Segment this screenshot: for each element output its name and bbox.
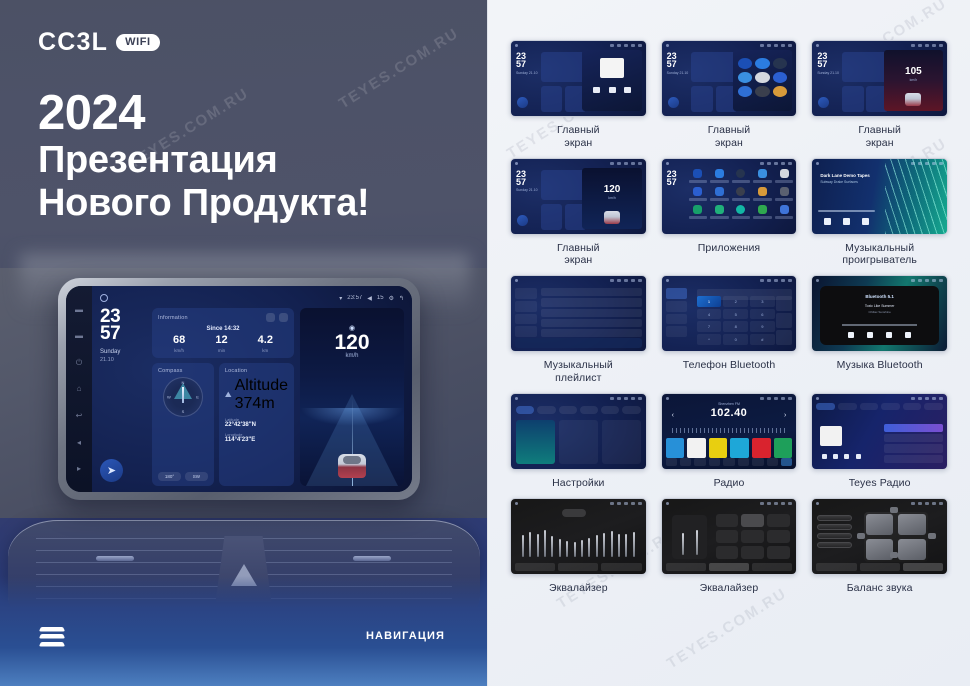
station-preset[interactable] <box>709 438 728 458</box>
balance-right-button[interactable] <box>928 533 936 539</box>
home-icon[interactable] <box>816 502 819 505</box>
balance-left-button[interactable] <box>857 533 865 539</box>
gallery-cell-3: 2357Sunday 21.10105km/hГлавный экран <box>811 40 948 150</box>
app-icon[interactable] <box>693 187 702 196</box>
clock-minutes: 57 <box>100 325 146 342</box>
longitude-value: 114°4'23"E <box>225 437 288 443</box>
dialpad-key[interactable]: 4 <box>697 309 722 320</box>
thumb-clock-min: 57 <box>667 178 677 186</box>
equalizer-slider[interactable] <box>625 534 627 557</box>
media-controls[interactable] <box>588 86 635 93</box>
volume-icon <box>624 502 628 505</box>
sidebar-item[interactable] <box>515 314 537 325</box>
teyes-tab[interactable] <box>924 403 943 410</box>
toolbar-icon[interactable] <box>781 458 792 466</box>
hw-key-volume-up[interactable]: ▸ <box>75 464 84 473</box>
station-preset[interactable] <box>687 438 706 458</box>
gallery-cell-6: Dark Lane Demo TapesSubway Drake Surface… <box>811 158 948 268</box>
hw-key-home[interactable]: ⌂ <box>75 384 84 393</box>
visualizer <box>885 159 947 234</box>
thumb-status-bar <box>666 43 793 48</box>
sidebar-item[interactable] <box>515 326 537 337</box>
sidebar-item[interactable] <box>515 288 537 299</box>
station-presets[interactable] <box>666 438 793 458</box>
teyes-tab[interactable] <box>903 403 922 410</box>
gear-icon <box>631 502 635 505</box>
thumb-home-screen-3[interactable]: 2357Sunday 21.10105km/h <box>811 40 948 117</box>
star-icon[interactable] <box>776 296 792 311</box>
station-preset[interactable] <box>730 438 749 458</box>
app-tile[interactable] <box>732 205 751 219</box>
thumb-compass-card[interactable] <box>842 86 864 112</box>
navigation-arrow-icon[interactable] <box>517 97 528 108</box>
app-icon[interactable] <box>755 72 769 83</box>
thumb-equalizer-1[interactable] <box>510 498 647 575</box>
speaker-quadrant[interactable] <box>866 539 893 560</box>
home-icon[interactable] <box>666 44 669 47</box>
next-icon[interactable] <box>844 454 849 459</box>
app-icon[interactable] <box>693 205 702 214</box>
thumb-right-widget[interactable] <box>733 50 792 111</box>
toolbar-button[interactable] <box>860 563 900 571</box>
app-icon[interactable] <box>736 187 745 196</box>
next-station-icon[interactable]: › <box>784 412 786 419</box>
home-icon[interactable] <box>816 279 819 282</box>
sidebar-item[interactable] <box>666 288 688 299</box>
equalizer-toolbar[interactable] <box>666 563 793 571</box>
dialpad[interactable]: 123456789*0# <box>697 296 775 346</box>
stop-icon[interactable] <box>609 87 616 93</box>
equalizer-slider[interactable] <box>588 538 590 557</box>
app-tile[interactable] <box>689 205 708 219</box>
stop-icon[interactable] <box>886 332 892 338</box>
dialpad-key[interactable]: 5 <box>723 309 748 320</box>
thumb-information-card[interactable] <box>541 170 587 200</box>
media-controls[interactable] <box>818 217 875 226</box>
navigation-arrow-icon[interactable] <box>517 215 528 226</box>
toolbar-button[interactable] <box>666 563 706 571</box>
wifi-icon <box>911 502 915 505</box>
hardware-key-strip[interactable]: ▬ ▬ ⏻ ⌂ ↩ ◂ ▸ <box>66 286 92 492</box>
settings-tab[interactable] <box>601 406 619 414</box>
thumb-information-card[interactable] <box>842 52 888 82</box>
thumb-clock: 2357Sunday 21.10 <box>516 52 538 75</box>
gear-icon <box>932 44 936 47</box>
home-icon[interactable] <box>515 397 518 400</box>
preset-button[interactable] <box>716 514 739 527</box>
equalizer-slider[interactable] <box>633 532 635 557</box>
thumb-sound-balance[interactable] <box>811 498 948 575</box>
equalizer-slider[interactable] <box>574 542 576 557</box>
refresh-icon[interactable] <box>266 313 275 322</box>
station-preset[interactable] <box>774 438 793 458</box>
toolbar-icon[interactable] <box>680 458 691 466</box>
home-icon[interactable] <box>100 294 108 302</box>
favorite-icon[interactable] <box>856 454 861 459</box>
thumb-right-widget[interactable] <box>582 50 641 111</box>
list-item[interactable] <box>884 455 943 463</box>
app-icon[interactable] <box>758 205 767 214</box>
media-controls[interactable] <box>842 330 917 339</box>
equalizer-slider[interactable] <box>596 535 598 557</box>
equalizer-sliders[interactable] <box>522 517 635 558</box>
toolbar-icon[interactable] <box>767 458 778 466</box>
hero-panel: TEYES.COM.RU TEYES.COM.RU TEYES.COM.RU T… <box>0 0 487 686</box>
next-icon[interactable] <box>862 218 869 225</box>
app-tile[interactable] <box>732 187 751 201</box>
home-icon[interactable] <box>666 397 669 400</box>
app-icon[interactable] <box>780 187 789 196</box>
preset-button[interactable] <box>716 530 739 543</box>
preset-button[interactable] <box>767 514 790 527</box>
speaker-quadrant[interactable] <box>866 514 893 535</box>
prev-icon[interactable] <box>848 332 854 338</box>
toolbar-button[interactable] <box>558 563 598 571</box>
toolbar-button[interactable] <box>601 563 641 571</box>
app-icon[interactable] <box>755 58 769 69</box>
home-icon[interactable] <box>666 502 669 505</box>
balance-toolbar[interactable] <box>816 563 943 571</box>
teyes-tab[interactable] <box>816 403 835 410</box>
track-title: Dark Lane Demo Tapes <box>820 173 869 178</box>
list-item[interactable] <box>884 424 943 432</box>
speed-readout: ◉ 120 km/h <box>300 324 404 359</box>
dialpad-key[interactable]: 6 <box>750 309 775 320</box>
app-icon[interactable] <box>715 205 724 214</box>
compass-card[interactable]: Compass N E S W <box>152 363 214 486</box>
thumb-equalizer-2[interactable] <box>661 498 798 575</box>
thumb-music-playlist[interactable] <box>510 275 647 352</box>
equalizer-slider[interactable] <box>581 540 583 557</box>
app-tile[interactable] <box>732 169 751 183</box>
app-tile[interactable] <box>753 169 772 183</box>
volume-icon <box>774 44 778 47</box>
equalizer-slider[interactable] <box>611 531 613 557</box>
preset-button[interactable] <box>716 546 739 559</box>
teyes-station-list[interactable] <box>884 424 943 463</box>
preset-button[interactable] <box>741 530 764 543</box>
home-icon[interactable] <box>515 279 518 282</box>
gear-icon[interactable]: ⚙ <box>389 295 394 302</box>
toolbar-icon[interactable] <box>709 458 720 466</box>
teyes-tabs[interactable] <box>816 403 943 410</box>
thumb-home-screen-1[interactable]: 2357Sunday 21.10 <box>510 40 647 117</box>
app-tile[interactable] <box>710 187 729 201</box>
layers-icon[interactable] <box>40 626 64 649</box>
dialpad-key[interactable]: # <box>750 334 775 345</box>
navigation-arrow-icon[interactable] <box>818 97 829 108</box>
settings-tab[interactable] <box>516 406 534 414</box>
thumb-music-player[interactable]: Dark Lane Demo TapesSubway Drake Surface… <box>811 158 948 235</box>
vent-knob-right[interactable] <box>353 556 391 561</box>
balance-presets[interactable] <box>817 515 852 548</box>
progress-bar[interactable] <box>818 210 875 212</box>
sidebar-item[interactable] <box>666 314 688 325</box>
toolbar-button[interactable] <box>816 563 856 571</box>
back-arrow-icon[interactable]: ↰ <box>399 295 404 302</box>
playlist-sidebar[interactable] <box>515 288 537 337</box>
thumbnail-caption: Телефон Bluetooth <box>683 359 776 372</box>
traffic-tile[interactable] <box>559 420 598 464</box>
thumb-applications[interactable]: 2357 <box>661 158 798 235</box>
app-icon[interactable] <box>755 86 769 97</box>
app-icon[interactable] <box>738 58 752 69</box>
hw-key-volume-down[interactable]: ◂ <box>75 438 84 447</box>
app-label <box>753 180 772 183</box>
thumb-clock-min: 57 <box>516 178 538 186</box>
toolbar-button[interactable] <box>752 563 792 571</box>
media-controls[interactable] <box>818 454 864 461</box>
dialpad-key[interactable]: 9 <box>750 321 775 332</box>
app-label <box>710 180 729 183</box>
wifi-icon <box>760 502 764 505</box>
hw-key-back[interactable]: ↩ <box>75 411 84 420</box>
speed-unit: km/h <box>300 353 404 359</box>
thumb-right-widget[interactable]: 120km/h <box>582 168 641 229</box>
dialpad-key[interactable]: 2 <box>723 296 748 307</box>
app-icon[interactable] <box>758 169 767 178</box>
thumb-radio[interactable]: Shenzhen FM102.40‹› <box>661 393 798 470</box>
dialpad-key[interactable]: * <box>697 334 722 345</box>
toolbar-icon[interactable] <box>666 458 677 466</box>
prev-icon[interactable] <box>824 218 831 225</box>
gallery-cell-11: Shenzhen FM102.40‹›Радио <box>661 393 798 490</box>
settings-tabs[interactable] <box>516 406 641 414</box>
home-icon[interactable] <box>515 162 518 165</box>
preset-slider[interactable] <box>817 524 852 530</box>
toolbar-icon[interactable] <box>738 458 749 466</box>
app-tile[interactable] <box>775 205 794 219</box>
toolbar-button[interactable] <box>709 563 749 571</box>
clock <box>767 162 771 165</box>
dialpad-key[interactable]: 8 <box>723 321 748 332</box>
preset-button[interactable] <box>741 514 764 527</box>
app-icon[interactable] <box>780 205 789 214</box>
frequency-dial[interactable] <box>672 428 785 433</box>
app-drawer-grid[interactable] <box>689 169 794 230</box>
app-tile[interactable] <box>689 169 708 183</box>
home-icon[interactable] <box>816 162 819 165</box>
sidebar-item[interactable] <box>666 326 688 337</box>
stat-distance-value: 4.2 <box>258 335 273 346</box>
settings-tab[interactable] <box>580 406 598 414</box>
product-logo: CC3L WIFI <box>38 30 160 55</box>
toolbar-icon[interactable] <box>723 458 734 466</box>
app-icon[interactable] <box>780 169 789 178</box>
radio-toolbar[interactable] <box>666 458 793 466</box>
home-icon[interactable] <box>666 162 669 165</box>
app-icon[interactable] <box>738 86 752 97</box>
app-tile[interactable] <box>710 205 729 219</box>
preset-button[interactable] <box>741 546 764 559</box>
list-item[interactable] <box>884 444 943 452</box>
home-icon[interactable] <box>515 44 518 47</box>
hw-key-mode[interactable]: ▬ <box>75 331 84 340</box>
drive-view-card[interactable]: ◉ 120 km/h <box>300 308 404 486</box>
thumb-compass-card[interactable] <box>691 86 713 112</box>
wifi-tile[interactable] <box>516 420 555 464</box>
settings-tab[interactable] <box>622 406 640 414</box>
equalizer-toolbar[interactable] <box>515 563 642 571</box>
volume-icon[interactable]: ◀ <box>367 295 372 302</box>
thumb-compass-card[interactable] <box>541 86 563 112</box>
sidebar-item[interactable] <box>666 301 688 312</box>
equalizer-slider[interactable] <box>603 533 605 557</box>
app-tile[interactable] <box>775 187 794 201</box>
dialpad-key[interactable]: 3 <box>750 296 775 307</box>
hw-key-power[interactable]: ⏻ <box>75 358 84 367</box>
preset-button[interactable] <box>767 546 790 559</box>
location-card[interactable]: Location ⛰ Altitude 374m <box>219 363 294 486</box>
thumbnail-caption: Настройки <box>552 477 604 490</box>
pause-icon[interactable] <box>843 218 850 225</box>
preset-slider[interactable] <box>817 542 852 548</box>
longitude-row: Longitude 114°4'23"E <box>225 432 288 443</box>
list-item[interactable] <box>541 309 642 317</box>
thumb-right-widget[interactable]: 105km/h <box>884 50 943 111</box>
equalizer-slider[interactable] <box>559 539 561 557</box>
thumb-information-card[interactable] <box>691 52 737 82</box>
toolbar-button[interactable] <box>515 563 555 571</box>
app-tile[interactable] <box>753 205 772 219</box>
fader-box[interactable] <box>672 515 707 559</box>
vent-knob-left[interactable] <box>96 556 134 561</box>
expand-icon[interactable] <box>279 313 288 322</box>
teyes-tab[interactable] <box>881 403 900 410</box>
call-icon[interactable] <box>776 330 792 345</box>
list-item[interactable] <box>541 288 642 296</box>
stop-icon[interactable] <box>833 454 838 459</box>
quick-apps-grid[interactable] <box>738 58 787 97</box>
gear-icon <box>932 502 936 505</box>
speaker-quadrant[interactable] <box>898 539 925 560</box>
fader-slider[interactable] <box>696 530 698 555</box>
app-icon[interactable] <box>773 58 787 69</box>
progress-bar[interactable] <box>842 324 917 326</box>
prev-icon[interactable] <box>593 87 600 93</box>
preset-slider[interactable] <box>817 515 852 521</box>
thumb-bluetooth-phone[interactable]: 123456789*0# <box>661 275 798 352</box>
thumb-compass-card[interactable] <box>541 204 563 230</box>
equalizer-slider[interactable] <box>566 541 568 557</box>
sidebar-item[interactable] <box>515 301 537 312</box>
dialpad-key[interactable]: 0 <box>723 334 748 345</box>
toolbar-icon[interactable] <box>752 458 763 466</box>
preset-slider[interactable] <box>817 533 852 539</box>
speaker-quadrant[interactable] <box>898 514 925 535</box>
playlist-tracks[interactable] <box>541 288 642 337</box>
equalizer-slider[interactable] <box>537 534 539 557</box>
information-card[interactable]: Information Since 14:32 <box>152 308 294 358</box>
thumb-information-card[interactable] <box>541 52 587 82</box>
app-icon[interactable] <box>715 187 724 196</box>
app-icon[interactable] <box>773 86 787 97</box>
preset-grid[interactable] <box>716 514 790 559</box>
thumb-teyes-radio[interactable] <box>811 393 948 470</box>
wifi-icon <box>760 162 764 165</box>
app-icon[interactable] <box>773 72 787 83</box>
wifi-icon <box>911 397 915 400</box>
station-preset[interactable] <box>752 438 771 458</box>
next-icon[interactable] <box>905 332 911 338</box>
equalizer-slider[interactable] <box>529 532 531 557</box>
app-label <box>732 180 751 183</box>
play-pause-icon[interactable] <box>867 332 873 338</box>
dialpad-key[interactable]: 1 <box>697 296 722 307</box>
prev-station-icon[interactable]: ‹ <box>672 412 674 419</box>
thumb-home-screen-2[interactable]: 2357Sunday 21.10 <box>661 40 798 117</box>
app-tile[interactable] <box>689 187 708 201</box>
settings-tiles[interactable] <box>516 420 641 464</box>
app-icon[interactable] <box>736 169 745 178</box>
next-icon[interactable] <box>624 87 631 93</box>
app-icon[interactable] <box>758 187 767 196</box>
preset-chip[interactable] <box>562 509 586 517</box>
list-item[interactable] <box>541 298 642 306</box>
prev-icon[interactable] <box>822 454 827 459</box>
app-label <box>732 198 751 201</box>
teyes-tab[interactable] <box>838 403 857 410</box>
backspace-icon[interactable] <box>776 313 792 328</box>
list-item[interactable] <box>541 319 642 327</box>
equalizer-slider[interactable] <box>618 534 620 557</box>
navigation-arrow-icon[interactable]: ➤ <box>100 459 123 482</box>
app-icon[interactable] <box>736 205 745 214</box>
app-icon[interactable] <box>715 169 724 178</box>
balance-up-button[interactable] <box>890 507 898 513</box>
now-playing-bar[interactable] <box>515 338 642 348</box>
dialpad-key[interactable]: 7 <box>697 321 722 332</box>
equalizer-slider[interactable] <box>522 535 524 557</box>
preset-button[interactable] <box>767 530 790 543</box>
app-tile[interactable] <box>753 187 772 201</box>
phone-sidebar[interactable] <box>666 288 688 337</box>
app-tile[interactable] <box>710 169 729 183</box>
list-item[interactable] <box>884 434 943 442</box>
equalizer-slider[interactable] <box>551 536 553 557</box>
station-preset[interactable] <box>666 438 685 458</box>
equalizer-slider[interactable] <box>544 530 546 557</box>
more-tile[interactable] <box>602 420 641 464</box>
hw-key-menu[interactable]: ▬ <box>75 305 84 314</box>
settings-tab[interactable] <box>537 406 555 414</box>
home-icon[interactable] <box>666 279 669 282</box>
clock <box>617 397 621 400</box>
navigation-arrow-icon[interactable] <box>668 97 679 108</box>
thumb-settings[interactable] <box>510 393 647 470</box>
settings-tab[interactable] <box>559 406 577 414</box>
app-icon[interactable] <box>738 72 752 83</box>
clock <box>767 44 771 47</box>
fader-slider[interactable] <box>682 533 684 555</box>
head-unit-screen[interactable]: ▾ 23:57 ◀ 15 ⚙ ↰ 23 57 Sunday <box>92 286 412 492</box>
list-item[interactable] <box>541 329 642 337</box>
home-icon[interactable] <box>816 44 819 47</box>
app-tile[interactable] <box>775 169 794 183</box>
gear-icon <box>631 279 635 282</box>
home-icon[interactable] <box>515 502 518 505</box>
app-icon[interactable] <box>693 169 702 178</box>
call-actions[interactable] <box>776 296 792 346</box>
balance-down-button[interactable] <box>890 552 898 558</box>
teyes-tab[interactable] <box>860 403 879 410</box>
thumb-home-screen-4[interactable]: 2357Sunday 21.10120km/h <box>510 158 647 235</box>
toolbar-button[interactable] <box>903 563 943 571</box>
home-icon[interactable] <box>816 397 819 400</box>
thumb-bluetooth-music[interactable]: Bluetooth 5.1Toxic Like SummerChillax Su… <box>811 275 948 352</box>
toolbar-icon[interactable] <box>694 458 705 466</box>
thumb-status-bar <box>515 161 642 166</box>
